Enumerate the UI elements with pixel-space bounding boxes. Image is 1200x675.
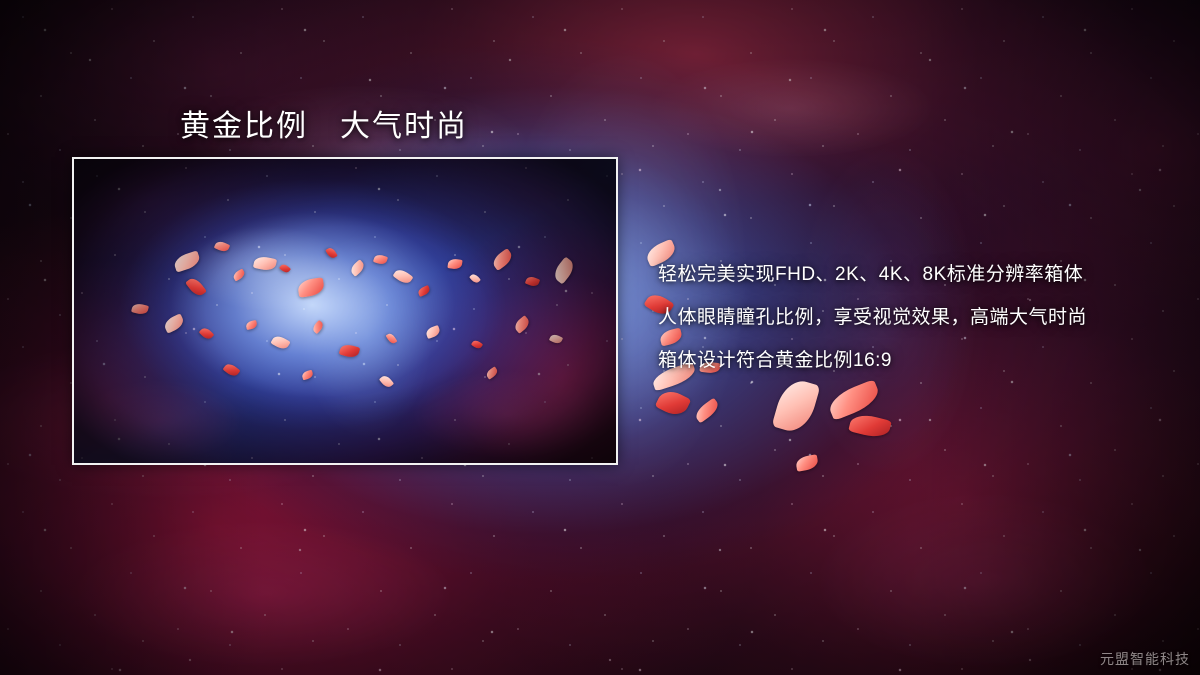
watermark: 元盟智能科技 [1100, 649, 1190, 669]
body-text-line: 箱体设计符合黄金比例16:9 [658, 339, 1087, 382]
body-text-line: 轻松完美实现FHD、2K、4K、8K标准分辨率箱体 [658, 253, 1087, 296]
body-text-line: 人体眼睛瞳孔比例，享受视觉效果，高端大气时尚 [658, 296, 1087, 339]
framed-image-panel [72, 157, 618, 465]
slide-title: 黄金比例 大气时尚 [180, 101, 468, 145]
body-text-block: 轻松完美实现FHD、2K、4K、8K标准分辨率箱体人体眼睛瞳孔比例，享受视觉效果… [658, 253, 1087, 382]
panel-vignette [74, 159, 616, 463]
presentation-slide: 黄金比例 大气时尚 轻松完美实现FHD、2K、4K、8K标准分辨率箱体人体眼睛瞳… [0, 0, 1200, 675]
